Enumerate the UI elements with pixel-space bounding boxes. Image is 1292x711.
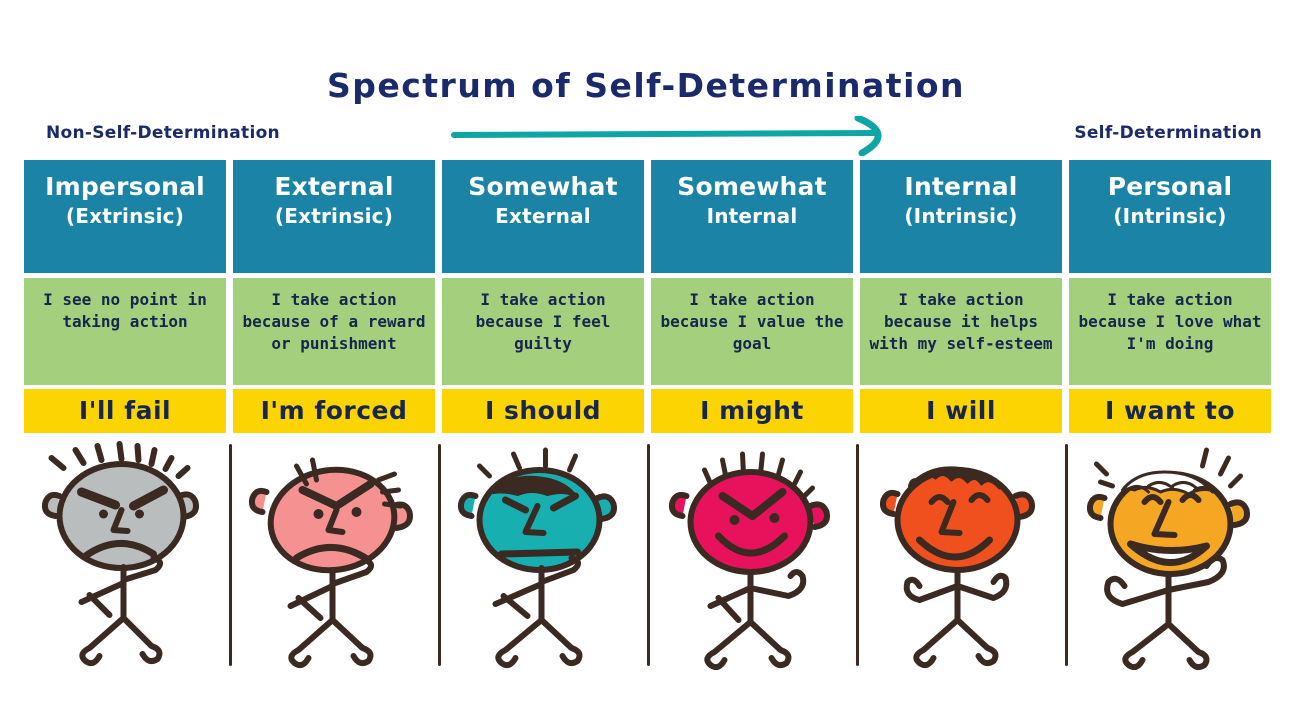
- figures-row: [24, 438, 1271, 678]
- figure-cell-1: [24, 438, 226, 678]
- column-divider-3: [647, 444, 650, 666]
- header-cell-5: Internal (Intrinsic): [860, 160, 1062, 273]
- stick-figure-smiling-magenta-icon: [665, 440, 840, 670]
- header-sub-2: (Extrinsic): [233, 202, 435, 230]
- spectrum-left-label: Non-Self-Determination: [46, 120, 280, 146]
- stick-figure-angry-pink-icon: [247, 440, 422, 670]
- header-sub-4: Internal: [651, 202, 853, 230]
- figure-cell-2: [233, 438, 435, 678]
- header-cell-4: Somewhat Internal: [651, 160, 853, 273]
- statement-cell-5: I take action because it helps with my s…: [860, 278, 1062, 385]
- header-main-3: Somewhat: [442, 172, 644, 202]
- statement-cell-3: I take action because I feel guilty: [442, 278, 644, 385]
- column-divider-2: [438, 444, 441, 666]
- statement-row: I see no point in taking action I take a…: [24, 278, 1271, 385]
- phrase-cell-5: I will: [860, 389, 1062, 433]
- spectrum-right-label: Self-Determination: [1074, 120, 1262, 146]
- statement-cell-1: I see no point in taking action: [24, 278, 226, 385]
- stick-figure-happy-orange-icon: [874, 440, 1049, 670]
- stick-figure-worried-teal-icon: [456, 440, 631, 670]
- spectrum-band: Non-Self-Determination Self-Determinatio…: [0, 120, 1292, 154]
- phrase-cell-1: I'll fail: [24, 389, 226, 433]
- header-cell-1: Impersonal (Extrinsic): [24, 160, 226, 273]
- statement-cell-4: I take action because I value the goal: [651, 278, 853, 385]
- right-arrow-icon: [450, 116, 910, 156]
- header-cell-2: External (Extrinsic): [233, 160, 435, 273]
- header-sub-5: (Intrinsic): [860, 202, 1062, 230]
- figure-cell-5: [860, 438, 1062, 678]
- header-main-1: Impersonal: [24, 172, 226, 202]
- figure-cell-4: [651, 438, 853, 678]
- phrase-cell-2: I'm forced: [233, 389, 435, 433]
- column-divider-1: [229, 444, 232, 666]
- figure-cell-6: [1069, 438, 1271, 678]
- header-cell-6: Personal (Intrinsic): [1069, 160, 1271, 273]
- statement-cell-6: I take action because I love what I'm do…: [1069, 278, 1271, 385]
- header-row: Impersonal (Extrinsic) External (Extrins…: [24, 160, 1271, 273]
- phrase-cell-3: I should: [442, 389, 644, 433]
- figure-cell-3: [442, 438, 644, 678]
- phrase-cell-4: I might: [651, 389, 853, 433]
- phrase-row: I'll fail I'm forced I should I might I …: [24, 389, 1271, 433]
- header-main-4: Somewhat: [651, 172, 853, 202]
- header-main-2: External: [233, 172, 435, 202]
- statement-cell-2: I take action because of a reward or pun…: [233, 278, 435, 385]
- header-sub-1: (Extrinsic): [24, 202, 226, 230]
- header-cell-3: Somewhat External: [442, 160, 644, 273]
- header-main-6: Personal: [1069, 172, 1271, 202]
- stick-figure-sad-grey-icon: [38, 440, 213, 670]
- column-divider-5: [1065, 444, 1068, 666]
- column-divider-4: [856, 444, 859, 666]
- header-main-5: Internal: [860, 172, 1062, 202]
- header-sub-6: (Intrinsic): [1069, 202, 1271, 230]
- stick-figure-excited-yellow-icon: [1083, 440, 1258, 670]
- page-title: Spectrum of Self-Determination: [0, 66, 1292, 105]
- spectrum-matrix: Impersonal (Extrinsic) External (Extrins…: [24, 160, 1271, 433]
- header-sub-3: External: [442, 202, 644, 230]
- phrase-cell-6: I want to: [1069, 389, 1271, 433]
